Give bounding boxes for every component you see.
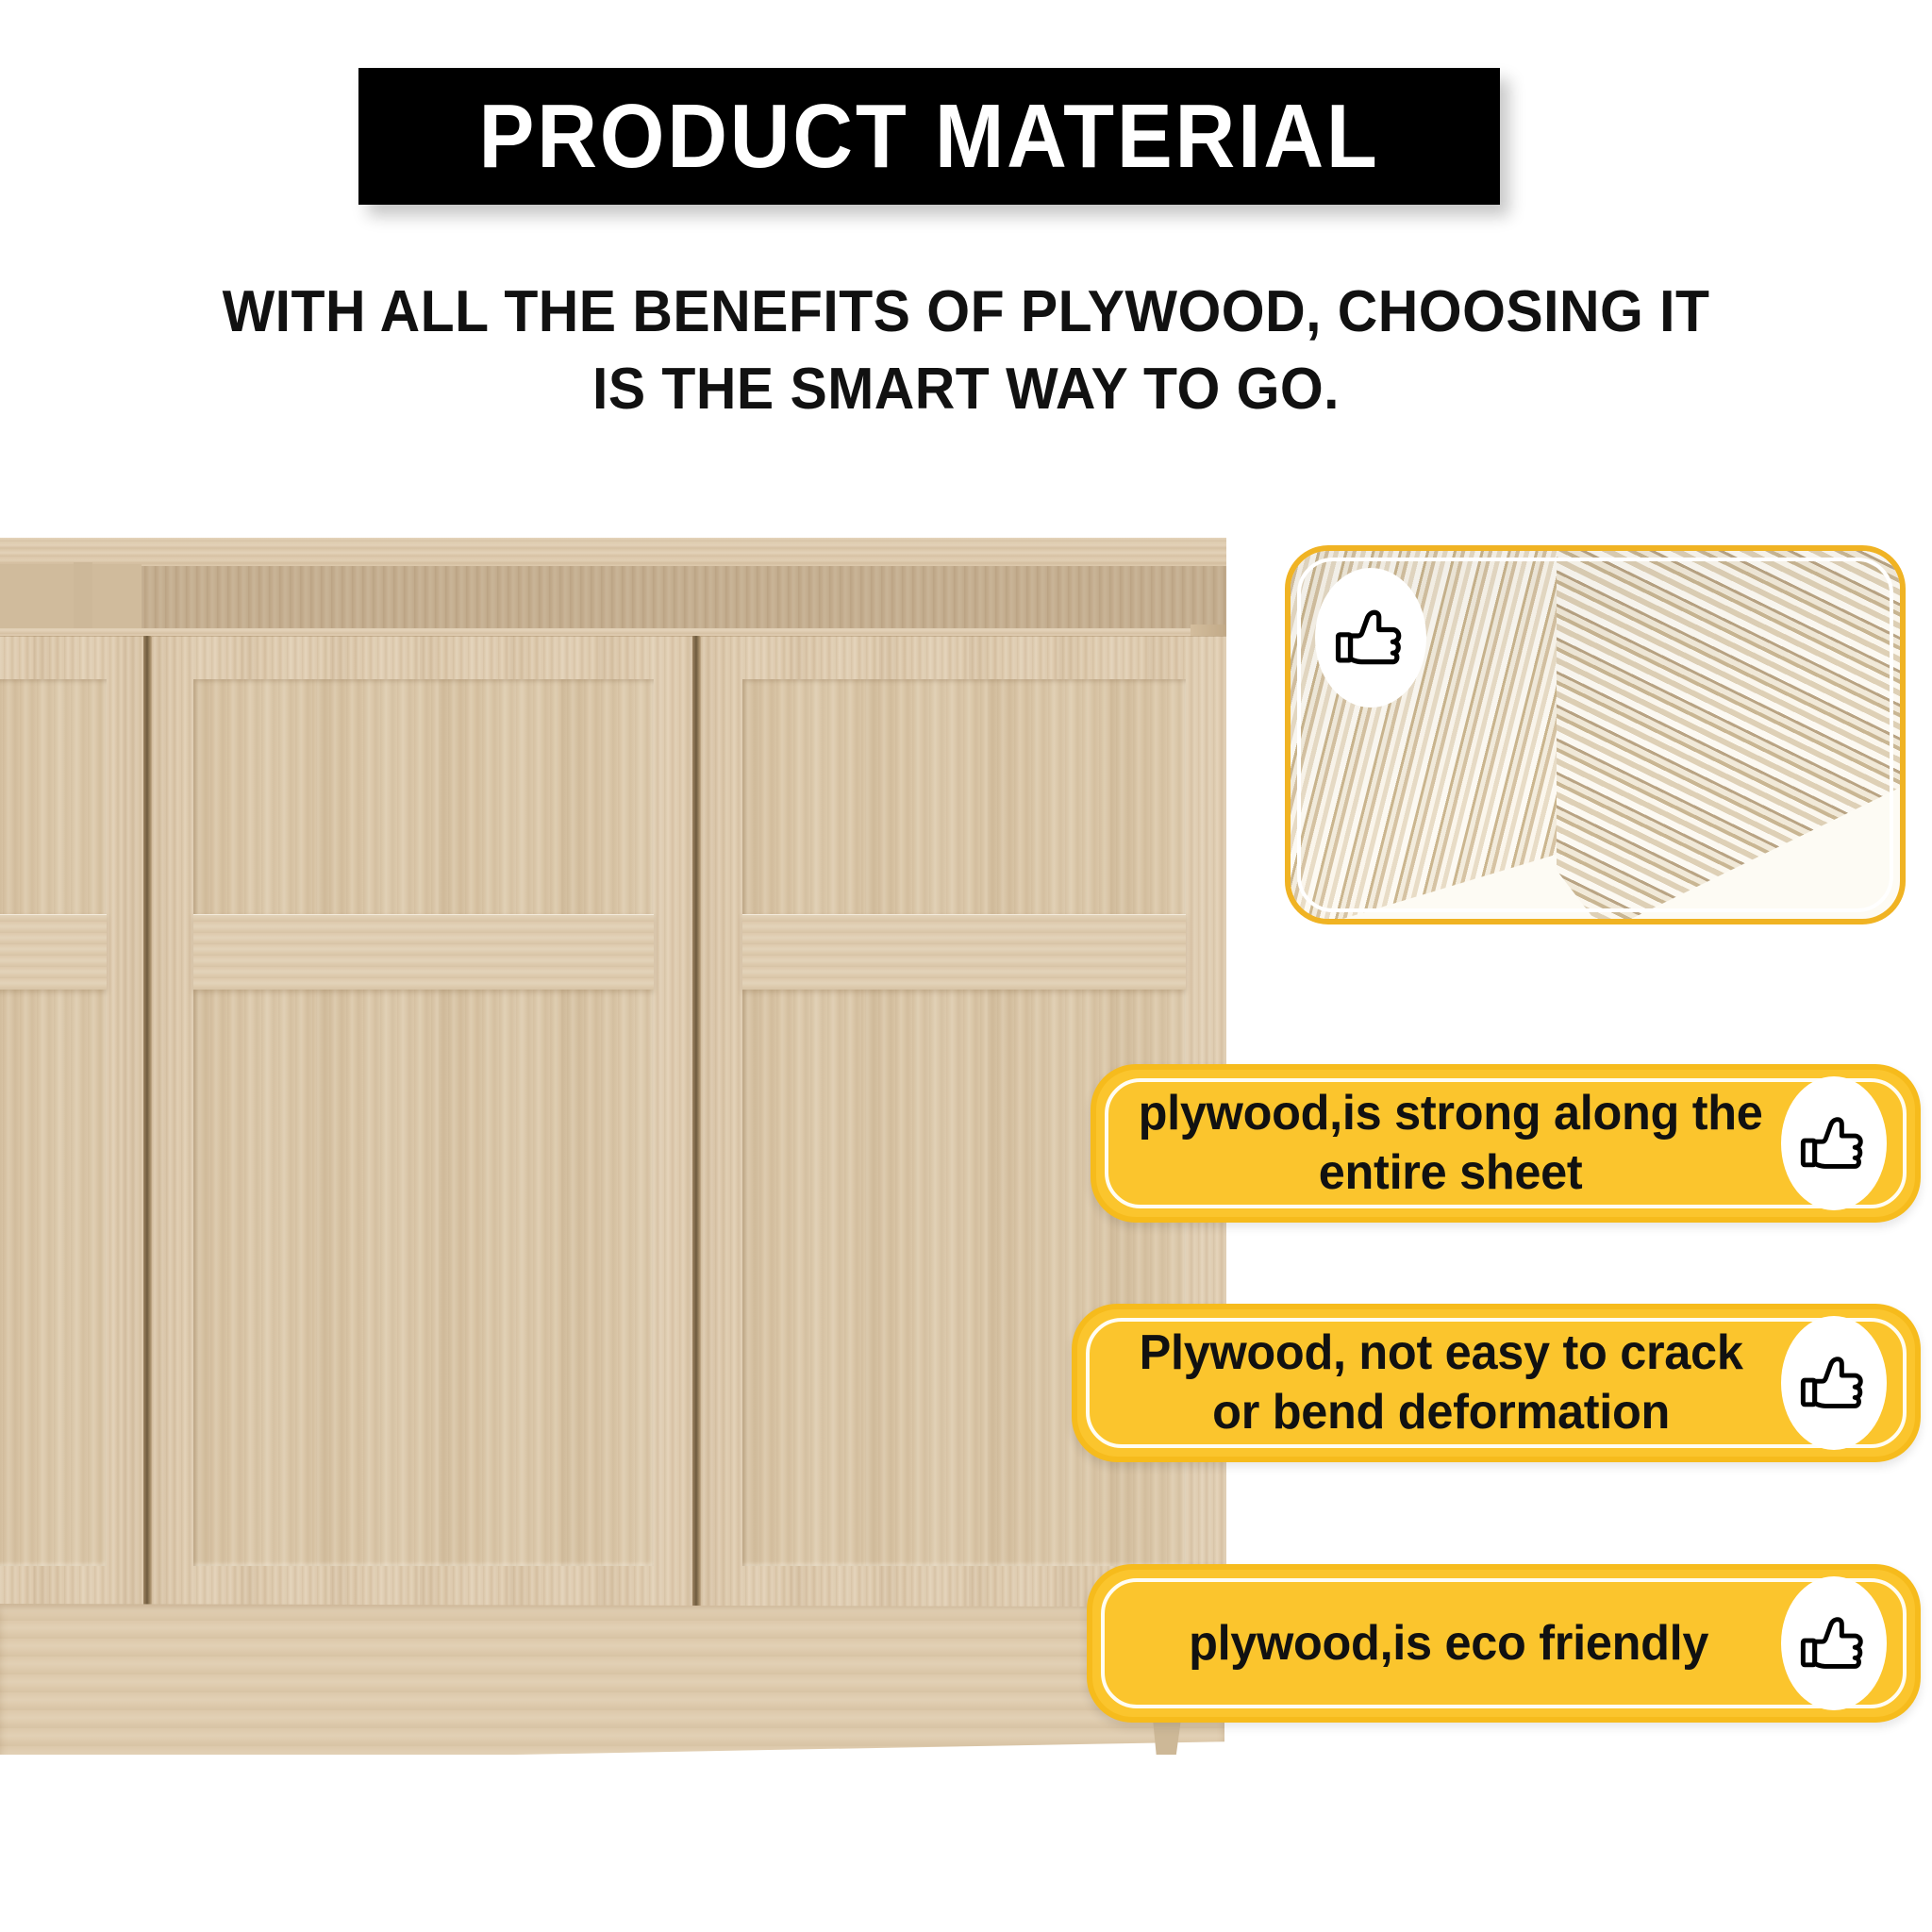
page-title-banner: PRODUCT MATERIAL bbox=[358, 68, 1500, 205]
door-panel bbox=[0, 679, 107, 1566]
product-cabinet-photo bbox=[0, 538, 1226, 1755]
page-title: PRODUCT MATERIAL bbox=[478, 92, 1379, 182]
subtitle-block: WITH ALL THE BENEFITS OF PLYWOOD, CHOOSI… bbox=[0, 274, 1932, 428]
badge-label: plywood,is strong along the entire sheet bbox=[1107, 1084, 1771, 1203]
cabinet-base-plinth bbox=[0, 1604, 1224, 1755]
cabinet-base-foot bbox=[1153, 1719, 1181, 1755]
benefit-badge-no-crack[interactable]: Plywood, not easy to crack or bend defor… bbox=[1072, 1304, 1921, 1462]
badge-label: Plywood, not easy to crack or bend defor… bbox=[1088, 1324, 1771, 1442]
thumbs-up-icon bbox=[1315, 568, 1426, 708]
plywood-detail-card bbox=[1285, 545, 1906, 924]
cabinet-door-middle bbox=[151, 636, 696, 1607]
door-center-rail bbox=[0, 914, 107, 990]
door-gap bbox=[692, 636, 700, 1607]
badge-label: plywood,is eco friendly bbox=[1103, 1614, 1771, 1674]
thumbs-up-icon bbox=[1781, 1076, 1887, 1210]
door-center-rail bbox=[193, 914, 654, 990]
benefit-badge-strong[interactable]: plywood,is strong along the entire sheet bbox=[1091, 1064, 1921, 1223]
thumbs-up-icon bbox=[1781, 1316, 1887, 1450]
thumbs-up-icon bbox=[1781, 1576, 1887, 1710]
door-panel bbox=[193, 679, 654, 1566]
door-gap bbox=[143, 636, 151, 1607]
header-section: PRODUCT MATERIAL WITH ALL THE BENEFITS O… bbox=[0, 0, 1932, 491]
door-center-rail bbox=[742, 914, 1186, 990]
cabinet-door-left bbox=[0, 636, 149, 1607]
benefit-badge-eco[interactable]: plywood,is eco friendly bbox=[1087, 1564, 1921, 1723]
subtitle-line-1: WITH ALL THE BENEFITS OF PLYWOOD, CHOOSI… bbox=[48, 274, 1884, 351]
subtitle-line-2: IS THE SMART WAY TO GO. bbox=[48, 351, 1884, 428]
